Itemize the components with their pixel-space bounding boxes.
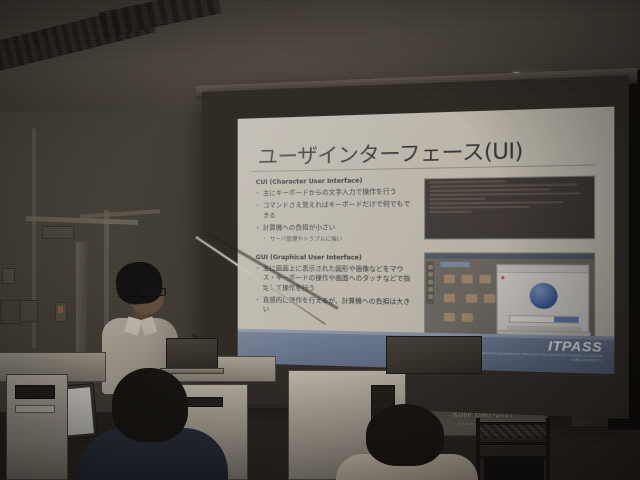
presentation-slide: ユーザインターフェース(UI) CUI (Character User Inte… xyxy=(238,107,615,375)
wall-panel xyxy=(0,300,22,324)
wall-panel xyxy=(20,300,38,322)
desktop-tower xyxy=(6,374,68,480)
slide-text-column: CUI (Character User Interface) 主にキーボードから… xyxy=(256,176,416,320)
terminal-screenshot xyxy=(424,175,595,239)
presenter-hair xyxy=(114,260,163,306)
gui-search-field xyxy=(509,315,579,324)
indicator-led xyxy=(58,306,63,313)
optical-drive-bay[interactable] xyxy=(15,385,55,399)
rack-equipment-box xyxy=(484,458,544,480)
audience-member-front-right xyxy=(336,404,478,480)
rack-shelf xyxy=(476,442,550,445)
bullet-item: コマンドさえ覚えればキーボードだけで何でもできる xyxy=(256,200,416,221)
metal-shelf-rack xyxy=(476,418,550,480)
audience-member-front-left xyxy=(78,368,228,480)
laptop-lid xyxy=(386,336,482,374)
audience-head xyxy=(112,368,188,442)
section-heading-cui: CUI (Character User Interface) xyxy=(256,176,416,186)
rack-post xyxy=(546,418,550,480)
glasses-icon xyxy=(140,288,166,296)
bullet-item: 主に画面上に表示された図形や画像などをマウス・キーボードの操作や画面へのタッチな… xyxy=(256,264,416,295)
gui-dock xyxy=(426,262,434,304)
rack-mesh xyxy=(480,424,546,438)
door-closer-body xyxy=(42,226,74,239)
audience-head xyxy=(366,404,444,466)
section-heading-gui: GUI (Graphical User Interface) xyxy=(256,254,416,262)
bullet-item: 主にキーボードからの文字入力で操作を行う xyxy=(256,187,416,199)
front-panel-strip xyxy=(15,405,55,413)
lecture-room-photo: Kobe 1961-2011 Graduate School of Scienc… xyxy=(0,0,640,480)
gui-window-titlebar xyxy=(498,265,588,273)
itpass-logo: ITPASS INFORMATION TECHNOLOGY PRACTICE F… xyxy=(474,337,602,364)
bullet-item: 計算機への負担が小さい xyxy=(256,223,416,234)
wall-switch-plate[interactable] xyxy=(2,268,15,284)
wall-column xyxy=(76,242,87,362)
slide-title: ユーザインターフェース(UI) xyxy=(258,133,523,170)
gui-menu-bar xyxy=(425,253,595,259)
browser-globe-icon xyxy=(530,283,558,309)
gui-selected-label xyxy=(441,262,470,267)
laptop-lid xyxy=(166,338,218,370)
bullet-subitem: サーバ管理やトラブルに強い xyxy=(256,235,416,244)
